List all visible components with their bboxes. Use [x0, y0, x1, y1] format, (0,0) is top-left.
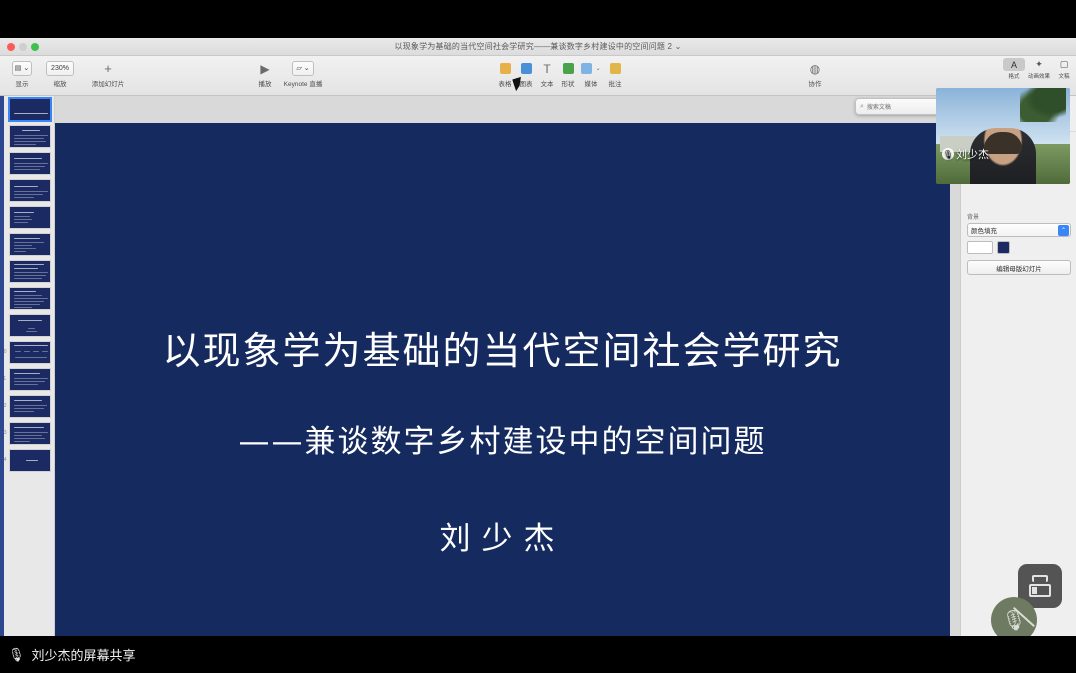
inspector-tab-animate[interactable]: ✦ 动画效果: [1026, 58, 1052, 84]
slide-thumbnail[interactable]: [9, 422, 51, 445]
toolbar-collaborate-button[interactable]: ◍ 协作: [798, 60, 832, 88]
toolbar-comment-button[interactable]: 批注: [598, 60, 632, 88]
slide-thumbnail-item[interactable]: 8: [0, 285, 54, 312]
slide-thumbnail[interactable]: [9, 287, 51, 310]
thumbnail-text-line: [14, 298, 48, 299]
slide-thumbnail-item[interactable]: 4: [0, 177, 54, 204]
slide-thumbnail-list: 1234567891011121314: [0, 96, 54, 474]
thumbnail-text-line: [14, 438, 45, 439]
slide-thumbnail-item[interactable]: 13: [0, 420, 54, 447]
thumbnail-text-line: [14, 248, 36, 249]
plus-icon: +: [104, 60, 112, 77]
slide-thumbnail[interactable]: [9, 179, 51, 202]
thumbnail-text-line: [14, 264, 44, 265]
slide-thumbnail[interactable]: [9, 395, 51, 418]
thumbnail-text-line: [14, 268, 38, 269]
slide-thumbnail[interactable]: [9, 449, 51, 472]
slide-author-line-3[interactable]: 刘少杰: [55, 513, 950, 558]
thumbnail-text-line: [14, 411, 34, 412]
background-color-row: [967, 241, 1071, 254]
video-tree: [1020, 88, 1066, 122]
window-titlebar: 以现象学为基础的当代空间社会学研究——兼谈数字乡村建设中的空间问题 2 ⌄: [0, 38, 1076, 56]
slide-thumbnail[interactable]: [9, 98, 51, 121]
background-fill-select[interactable]: 颜色填充 ⌃: [967, 223, 1071, 237]
screen-share-status-bar: 🎙 刘少杰的屏幕共享: [0, 636, 1076, 673]
thumbnail-text-line: [14, 245, 32, 246]
toolbar-play-label: 播放: [259, 78, 272, 88]
toolbar-view-button[interactable]: ▤ ⌄ 显示: [4, 60, 40, 88]
thumbnail-text-line: [14, 304, 40, 305]
view-icon: ▤ ⌄: [12, 60, 32, 77]
background-label: 背景: [967, 212, 1071, 221]
thumbnail-text-line: [14, 435, 42, 436]
thumbnail-text-line: [14, 242, 44, 243]
search-input[interactable]: 搜索文稿: [867, 102, 936, 111]
participant-name: 刘少杰: [956, 146, 989, 162]
slide-thumbnail[interactable]: [9, 206, 51, 229]
thumbnail-text-line: [14, 144, 36, 145]
video-person-hair: [984, 132, 1022, 154]
toolbar-zoom-button[interactable]: 230% 缩放: [42, 60, 78, 88]
chevron-updown-icon: ⌃: [1058, 225, 1069, 236]
slide-navigator[interactable]: 1234567891011121314: [0, 96, 55, 636]
thumbnail-text-line: [14, 216, 30, 217]
thumbnail-text-line: [14, 158, 42, 159]
slide-thumbnail[interactable]: [9, 314, 51, 337]
inspector-background-section: 背景 颜色填充 ⌃: [961, 208, 1076, 258]
keynote-toolbar: ▤ ⌄ 显示 230% 缩放 + 添加幻灯片 ▶ 播放 ▱ ⌄ Keynote …: [0, 56, 1076, 96]
thumbnail-text-line: [14, 219, 32, 220]
slide-thumbnail[interactable]: [9, 152, 51, 175]
inspector-tab-animate-label: 动画效果: [1028, 72, 1050, 80]
thumbnail-text-line: [33, 351, 39, 352]
thumbnail-text-line: [14, 378, 48, 379]
comment-icon: [610, 60, 621, 77]
background-color-well[interactable]: [967, 241, 993, 254]
play-icon: ▶: [260, 60, 269, 77]
thumbnail-text-line: [14, 138, 44, 139]
toolbar-comment-label: 批注: [609, 78, 622, 88]
thumbnail-text-line: [14, 427, 44, 428]
thumbnail-text-line: [14, 291, 36, 292]
thumbnail-text-line: [14, 194, 43, 195]
current-slide[interactable]: 以现象学为基础的当代空间社会学研究 ——兼谈数字乡村建设中的空间问题 刘少杰: [55, 123, 950, 670]
slide-thumbnail-item[interactable]: 10: [0, 339, 54, 366]
thumbnail-text-line: [14, 135, 48, 136]
slide-thumbnail-item[interactable]: 5: [0, 204, 54, 231]
slide-thumbnail[interactable]: [9, 368, 51, 391]
slide-thumbnail-item[interactable]: 7: [0, 258, 54, 285]
thumbnail-text-line: [14, 212, 34, 213]
thumbnail-text-line: [26, 331, 37, 332]
collaborate-icon: ◍: [810, 60, 820, 77]
thumbnail-text-line: [14, 238, 40, 239]
toolbar-zoom-label: 缩放: [54, 78, 67, 88]
screen-share-label: 刘少杰的屏幕共享: [32, 645, 136, 664]
thumbnail-text-line: [14, 301, 44, 302]
toolbar-shape-label: 形状: [562, 78, 575, 88]
thumbnail-text-line: [14, 408, 44, 409]
thumbnail-text-line: [14, 432, 48, 433]
thumbnail-text-line: [18, 320, 42, 321]
thumbnail-text-line: [14, 186, 38, 187]
keynote-live-icon: ▱ ⌄: [292, 60, 313, 77]
thumbnail-text-line: [14, 295, 42, 296]
inspector-tab-group: A 格式 ✦ 动画效果 ▢ 文稿: [1002, 58, 1076, 84]
thumbnail-text-line: [42, 351, 48, 352]
microphone-muted-icon: 🎙: [1001, 608, 1026, 633]
slide-thumbnail-item[interactable]: 1: [0, 96, 54, 123]
slide-thumbnail[interactable]: [9, 125, 51, 148]
slide-thumbnail-item[interactable]: 11: [0, 366, 54, 393]
screen-share-viewer: 以现象学为基础的当代空间社会学研究——兼谈数字乡村建设中的空间问题 2 ⌄ ▤ …: [0, 0, 1076, 673]
animate-icon: ✦: [1028, 58, 1050, 71]
format-icon: A: [1003, 58, 1025, 71]
inspector-tab-format[interactable]: A 格式: [1002, 58, 1026, 84]
keynote-window: 以现象学为基础的当代空间社会学研究——兼谈数字乡村建设中的空间问题 2 ⌄ ▤ …: [0, 38, 1076, 636]
thumbnail-text-line: [15, 351, 21, 352]
thumbnail-text-line: [14, 191, 48, 192]
background-color-swatch[interactable]: [997, 241, 1010, 254]
toolbar-add-slide-button[interactable]: + 添加幻灯片: [86, 60, 130, 88]
layout-icon-top: [1032, 575, 1048, 582]
thumbnail-text-line: [14, 278, 42, 279]
thumbnail-text-line: [14, 222, 28, 223]
thumbnail-text-line: [14, 384, 38, 385]
thumbnail-text-line: [14, 197, 34, 198]
navigator-edge-strip: [0, 96, 4, 636]
thumbnail-text-line: [14, 169, 40, 170]
thumbnail-text-line: [14, 405, 47, 406]
text-icon: T: [543, 60, 550, 77]
thumbnail-text-line: [14, 166, 45, 167]
toolbar-media-label: 媒体: [585, 78, 598, 88]
status-microphone-icon: 🎙: [8, 647, 25, 663]
thumbnail-text-line: [14, 373, 40, 374]
slide-thumbnail-item[interactable]: 6: [0, 231, 54, 258]
slide-title-line-1[interactable]: 以现象学为基础的当代空间社会学研究: [55, 320, 950, 375]
toolbar-play-button[interactable]: ▶ 播放: [250, 60, 280, 88]
thumbnail-text-line: [14, 251, 26, 252]
toolbar-keynote-live-button[interactable]: ▱ ⌄ Keynote 直播: [280, 60, 326, 88]
background-fill-value: 颜色填充: [971, 225, 997, 235]
thumbnail-text-line: [14, 113, 48, 114]
zoom-level-icon: 230%: [46, 60, 74, 77]
microphone-icon: 🎙: [942, 148, 954, 160]
thumbnail-text-line: [14, 400, 42, 401]
thumbnail-text-line: [28, 328, 35, 329]
slide-thumbnail[interactable]: [9, 341, 51, 364]
thumbnail-text-line: [14, 307, 32, 308]
thumbnail-text-line: [14, 163, 48, 164]
toolbar-collaborate-label: 协作: [809, 78, 822, 88]
inspector-tab-document[interactable]: ▢ 文稿: [1052, 58, 1076, 84]
thumbnail-text-line: [14, 441, 30, 442]
thumbnail-text-line: [26, 460, 38, 461]
slide-thumbnail-item[interactable]: 12: [0, 393, 54, 420]
toolbar-add-slide-label: 添加幻灯片: [92, 78, 125, 88]
slide-thumbnail-item[interactable]: 9: [0, 312, 54, 339]
layout-icon-fill: [1032, 587, 1037, 594]
thumbnail-text-line: [14, 381, 45, 382]
slide-thumbnail[interactable]: [9, 233, 51, 256]
toolbar-view-label: 显示: [16, 78, 29, 88]
slide-subtitle-line-2[interactable]: ——兼谈数字乡村建设中的空间问题: [55, 416, 950, 461]
zoom-level-value: 230%: [46, 61, 74, 76]
shape-icon: [563, 60, 574, 77]
toolbar-keynote-live-label: Keynote 直播: [284, 78, 323, 88]
participant-video-tile[interactable]: 🎙 刘少杰: [936, 88, 1070, 184]
thumbnail-text-line: [24, 351, 30, 352]
inspector-tab-format-label: 格式: [1008, 72, 1019, 80]
participant-name-badge: 🎙 刘少杰: [942, 146, 989, 162]
edit-master-slide-button[interactable]: 编辑母版幻灯片: [967, 260, 1071, 275]
thumbnail-text-line: [15, 357, 47, 358]
slide-thumbnail[interactable]: [9, 260, 51, 283]
slide-thumbnail-item[interactable]: 14: [0, 447, 54, 474]
search-icon: ⌕: [860, 103, 864, 111]
thumbnail-text-line: [14, 141, 46, 142]
thumbnail-text-line: [14, 275, 46, 276]
slide-thumbnail-item[interactable]: 3: [0, 150, 54, 177]
slide-thumbnail-item[interactable]: 2: [0, 123, 54, 150]
slide-canvas-area[interactable]: 以现象学为基础的当代空间社会学研究 ——兼谈数字乡村建设中的空间问题 刘少杰: [55, 96, 960, 636]
document-icon: ▢: [1053, 58, 1075, 71]
document-title: 以现象学为基础的当代空间社会学研究——兼谈数字乡村建设中的空间问题 2 ⌄: [0, 41, 1076, 52]
inspector-master-section: 编辑母版幻灯片: [961, 256, 1076, 279]
thumbnail-text-line: [14, 272, 48, 273]
thumbnail-text-line: [22, 130, 40, 131]
thumbnail-text-line: [14, 345, 48, 346]
inspector-tab-document-label: 文稿: [1058, 72, 1069, 80]
